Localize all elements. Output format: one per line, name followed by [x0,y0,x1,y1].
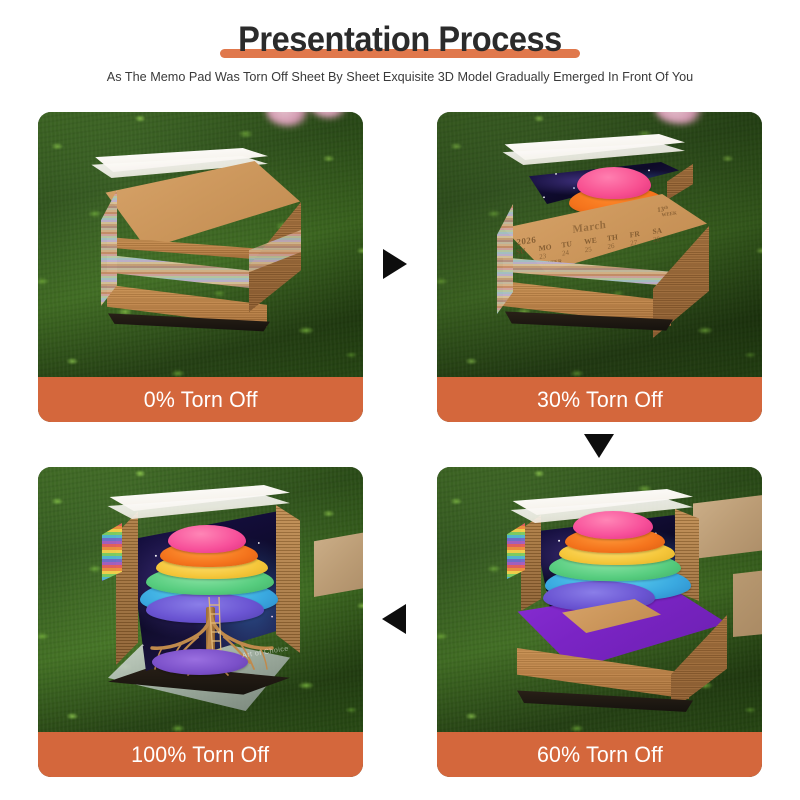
memo-pad-block [82,144,312,344]
panel-photo-0 [38,112,363,377]
tree-canopy-pink [573,511,653,539]
tree-canopy-pink [168,525,246,553]
calendar-month: March [572,219,606,236]
caption-bar-100: 100% Torn Off [38,732,363,777]
cardboard-box [733,567,762,637]
triangle-down-icon [584,434,614,458]
ground-foliage-purple [152,649,248,675]
caption-bar-60: 60% Torn Off [437,732,762,777]
calendar-week-label: WEEK [661,211,677,218]
panel-card-100[interactable]: Art of Choice 100% Torn Off [38,467,363,777]
title-wrap: Presentation Process [226,22,574,59]
panel-card-0[interactable]: 0% Torn Off [38,112,363,422]
pad-rainbow-edge [507,523,525,579]
panel-card-30[interactable]: 2026 March 13th WEEK SU MO TU WE TH FR [437,112,762,422]
triangle-left-icon [382,604,406,634]
memo-pad-model: Art of Choice [80,481,330,721]
caption-bar-0: 0% Torn Off [38,377,363,422]
page-title: Presentation Process [238,22,562,59]
panel-photo-60 [437,467,762,732]
memo-pad-block [479,483,733,731]
triangle-right-icon [383,249,407,279]
caption-label: 0% Torn Off [143,387,257,413]
ladder-icon [204,597,226,657]
panel-card-60[interactable]: 60% Torn Off [437,467,762,777]
panel-photo-30: 2026 March 13th WEEK SU MO TU WE TH FR [437,112,762,377]
caption-label: 30% Torn Off [536,387,662,413]
caption-bar-30: 30% Torn Off [437,377,762,422]
tree-canopy-pink [577,167,651,199]
caption-label: 60% Torn Off [536,742,662,768]
presentation-process-page: Presentation Process As The Memo Pad Was… [0,0,800,800]
page-header: Presentation Process As The Memo Pad Was… [0,0,800,84]
page-subtitle: As The Memo Pad Was Torn Off Sheet By Sh… [16,69,784,84]
pad-rainbow-edge [102,523,122,581]
memo-pad-block: 2026 March 13th WEEK SU MO TU WE TH FR [481,134,721,346]
panel-photo-100: Art of Choice [38,467,363,732]
pad-inner-rim [667,156,693,200]
caption-label: 100% Torn Off [131,742,269,768]
